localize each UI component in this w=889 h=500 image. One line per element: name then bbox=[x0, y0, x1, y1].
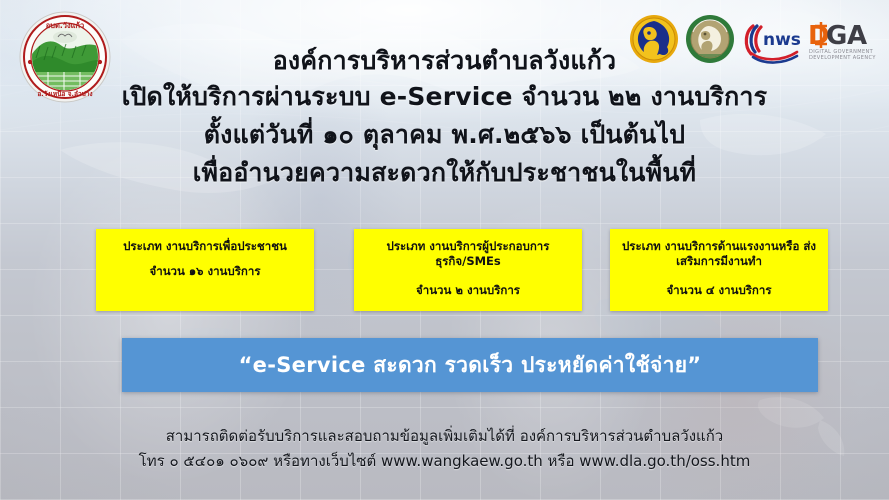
headline-line-4: เพื่ออำนวยความสะดวกให้กับประชาชนในพื้นที… bbox=[0, 154, 889, 192]
service-category-card: ประเภท งานบริการด้านแรงงานหรือ ส่งเสริมก… bbox=[610, 229, 828, 311]
footer-contact: สามารถติดต่อรับบริการและสอบถามข้อมูลเพิ่… bbox=[0, 424, 889, 474]
headline-line-2: เปิดให้บริการผ่านระบบ e-Service จำนวน ๒๒… bbox=[0, 78, 889, 116]
slogan-banner: “e-Service สะดวก รวดเร็ว ประหยัดค่าใช้จ่… bbox=[122, 338, 818, 392]
eservice-announcement-poster: อบต.วังแก้ว อ.วังเหนือ จ.ลำปาง bbox=[0, 0, 889, 500]
headline-block: องค์การบริหารส่วนตำบลวังแก้ว เปิดให้บริก… bbox=[0, 44, 889, 192]
service-category-card: ประเภท งานบริการเพื่อประชาชน จำนวน ๑๖ งา… bbox=[96, 229, 314, 311]
card-count: จำนวน ๔ งานบริการ bbox=[618, 283, 820, 298]
card-title: ประเภท งานบริการเพื่อประชาชน bbox=[104, 239, 306, 254]
headline-line-3: ตั้งแต่วันที่ ๑๐ ตุลาคม พ.ศ.๒๕๖๖ เป็นต้น… bbox=[0, 116, 889, 154]
service-category-card: ประเภท งานบริการผู้ประกอบการ ธุรกิจ/SMEs… bbox=[354, 229, 582, 311]
service-category-cards: ประเภท งานบริการเพื่อประชาชน จำนวน ๑๖ งา… bbox=[0, 229, 889, 311]
headline-line-1: องค์การบริหารส่วนตำบลวังแก้ว bbox=[0, 44, 889, 78]
footer-line-2: โทร ๐ ๕๔๐๑ ๐๖๐๙ หรือทางเว็บไซต์ www.wang… bbox=[0, 449, 889, 474]
card-title: ประเภท งานบริการด้านแรงงานหรือ ส่งเสริมก… bbox=[618, 239, 820, 269]
card-count: จำนวน ๑๖ งานบริการ bbox=[104, 264, 306, 279]
card-title: ประเภท งานบริการผู้ประกอบการ ธุรกิจ/SMEs bbox=[362, 239, 574, 269]
svg-text:อบต.วังแก้ว: อบต.วังแก้ว bbox=[46, 21, 84, 30]
footer-line-1: สามารถติดต่อรับบริการและสอบถามข้อมูลเพิ่… bbox=[0, 424, 889, 449]
card-count: จำนวน ๒ งานบริการ bbox=[362, 283, 574, 298]
slogan-text: “e-Service สะดวก รวดเร็ว ประหยัดค่าใช้จ่… bbox=[239, 349, 702, 382]
